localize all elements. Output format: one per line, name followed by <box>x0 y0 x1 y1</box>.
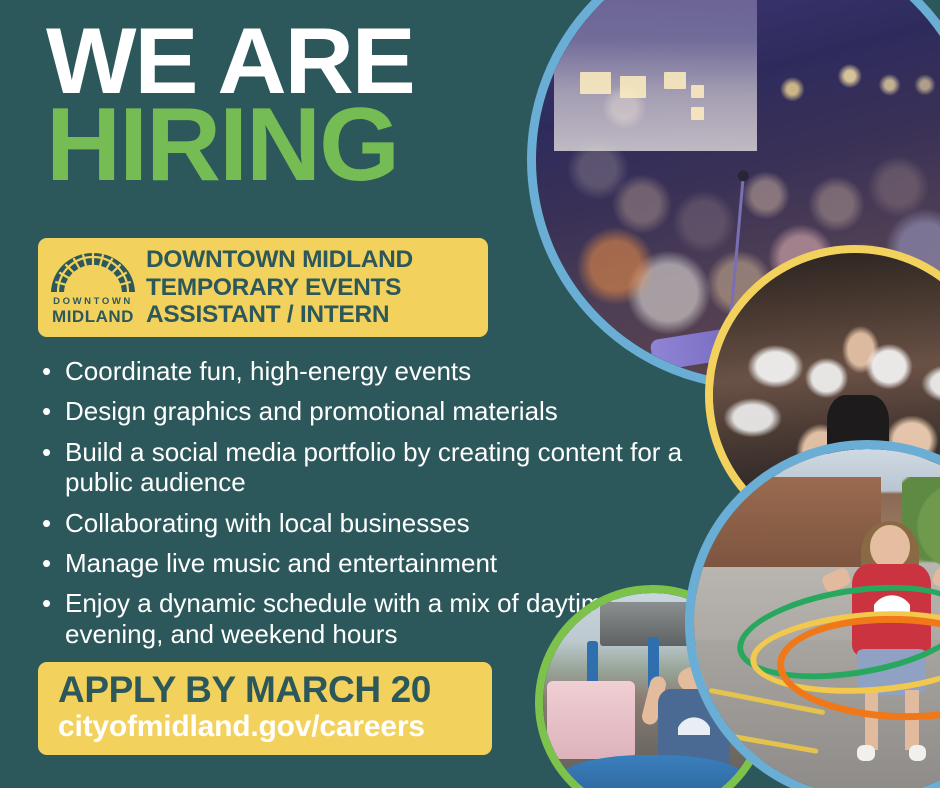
arch-logo-icon <box>48 251 138 295</box>
bullet-icon: • <box>42 508 51 538</box>
apply-banner[interactable]: APPLY BY MARCH 20 cityofmidland.gov/care… <box>38 662 492 755</box>
bullet-icon: • <box>42 396 51 426</box>
headline-line-hiring: HIRING <box>46 98 566 194</box>
photo-clip <box>694 449 940 788</box>
window-light <box>664 72 686 90</box>
window-light <box>580 72 611 94</box>
shoe <box>857 745 874 761</box>
list-item: •Manage live music and entertainment <box>38 548 698 578</box>
job-title-line-1: DOWNTOWN MIDLAND <box>146 246 478 274</box>
list-item: •Collaborating with local businesses <box>38 508 698 538</box>
list-item-text: Enjoy a dynamic schedule with a mix of d… <box>65 588 624 648</box>
job-title-line-3: ASSISTANT / INTERN <box>146 301 478 329</box>
window-light <box>620 76 647 98</box>
window-light <box>691 107 704 120</box>
list-item-text: Design graphics and promotional material… <box>65 396 558 426</box>
list-item-text: Coordinate fun, high-energy events <box>65 356 471 386</box>
job-title-line-2: TEMPORARY EVENTS <box>146 274 478 302</box>
apply-deadline: APPLY BY MARCH 20 <box>58 671 478 709</box>
bullet-icon: • <box>42 548 51 578</box>
job-title-lines: DOWNTOWN MIDLAND TEMPORARY EVENTS ASSIST… <box>146 246 478 329</box>
bullet-icon: • <box>42 356 51 386</box>
logo-bottom-text: MIDLAND <box>52 308 134 325</box>
woman-hula-hooping-photo <box>685 440 940 788</box>
downtown-midland-logo: DOWNTOWN MIDLAND <box>46 251 140 325</box>
hula-hoop-scene <box>694 449 940 788</box>
bullet-icon: • <box>42 437 51 467</box>
job-title-banner: DOWNTOWN MIDLAND DOWNTOWN MIDLAND TEMPOR… <box>38 238 488 337</box>
apply-url[interactable]: cityofmidland.gov/careers <box>58 710 478 744</box>
food-truck <box>547 681 635 760</box>
list-item: •Build a social media portfolio by creat… <box>38 437 698 498</box>
list-item: •Design graphics and promotional materia… <box>38 396 698 426</box>
shoe <box>909 745 926 761</box>
head <box>870 525 910 569</box>
list-item-text: Build a social media portfolio by creati… <box>65 437 682 497</box>
list-item-text: Manage live music and entertainment <box>65 548 497 578</box>
logo-top-text: DOWNTOWN <box>53 296 133 307</box>
headline: WE ARE HIRING <box>46 18 566 194</box>
window-light <box>691 85 704 98</box>
bullet-icon: • <box>42 588 51 618</box>
list-item-text: Collaborating with local businesses <box>65 508 470 538</box>
hiring-poster: WE ARE HIRING <box>0 0 940 788</box>
